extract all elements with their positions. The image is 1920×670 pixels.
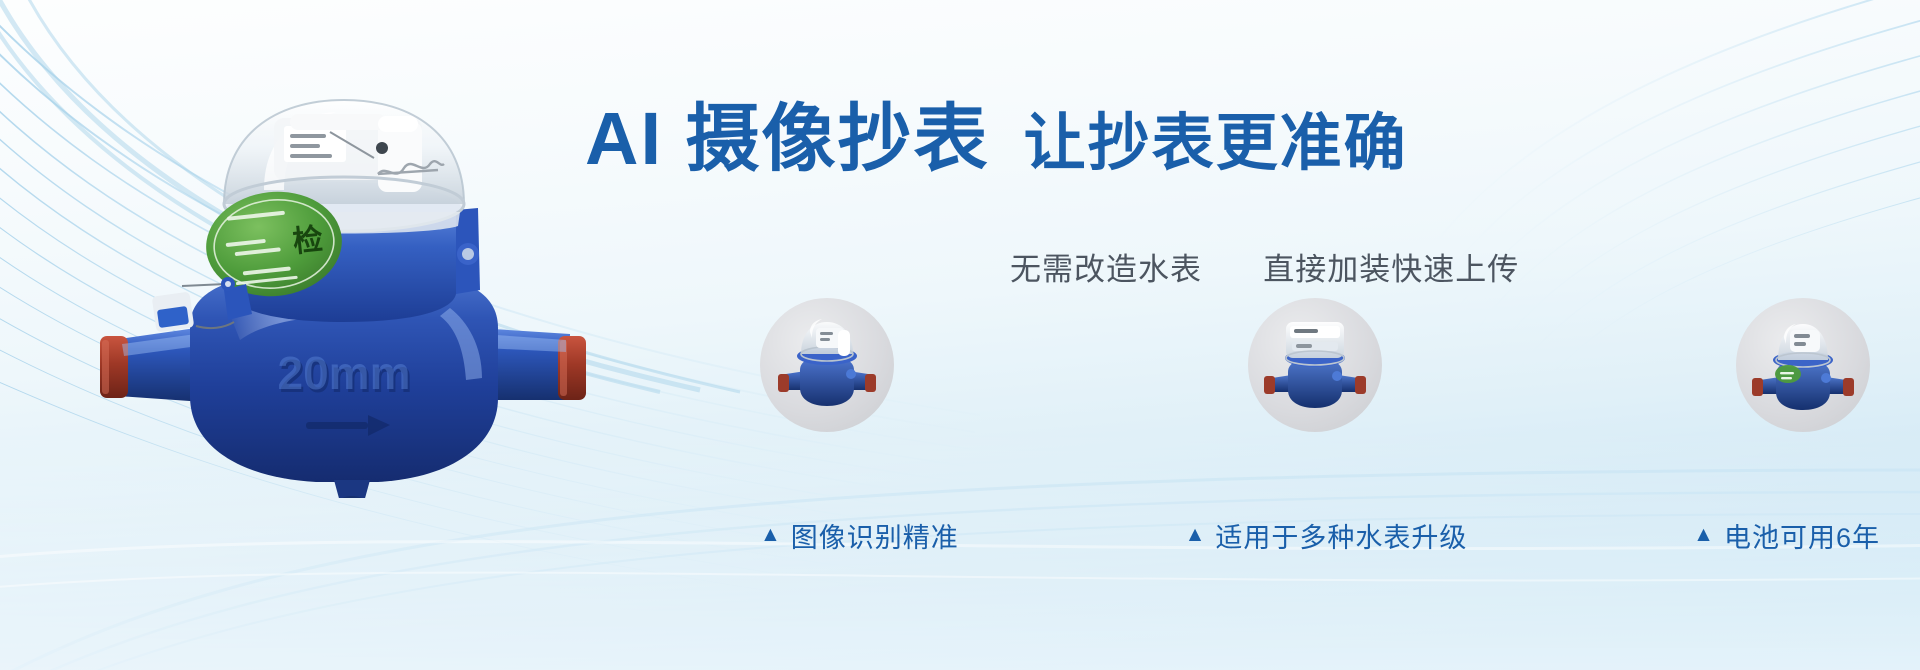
caption-text-1: 图像识别精准 — [791, 516, 959, 555]
water-meter-thumb-icon-2 — [1248, 298, 1382, 432]
triangle-bullet-icon: ▲ — [760, 524, 782, 545]
caption-text-2: 适用于多种水表升级 — [1215, 516, 1467, 555]
caption-text-3: 电池可用6年 — [1724, 516, 1880, 555]
headline-secondary-text: 让抄表更准确 — [1024, 113, 1408, 175]
thumb-image-recognition[interactable] — [760, 298, 894, 432]
feature-caption-row: ▲ 图像识别精准 ▲ 适用于多种水表升级 ▲ 电池可用6年 — [760, 512, 1880, 558]
water-meter-thumb-icon-3 — [1736, 298, 1870, 432]
triangle-bullet-icon: ▲ — [1185, 524, 1207, 545]
sticker-char: 检 — [291, 222, 324, 259]
water-meter-thumb-icon-1 — [760, 298, 894, 432]
caption-meter-upgrade: ▲ 适用于多种水表升级 — [1185, 516, 1468, 555]
thumb-battery-life[interactable] — [1736, 298, 1870, 432]
headline-block: AI 摄像抄表 让抄表更准确 — [585, 102, 1885, 192]
headline-main-text: AI 摄像抄表 — [585, 102, 990, 176]
hero-water-meter-image: 20mm 20mm N&F — [78, 78, 618, 498]
svg-text:20mm: 20mm — [278, 347, 411, 399]
caption-image-recognition: ▲ 图像识别精准 — [760, 516, 959, 555]
thumb-meter-upgrade[interactable] — [1248, 298, 1382, 432]
caption-battery-life: ▲ 电池可用6年 — [1693, 516, 1880, 555]
promo-banner: 20mm 20mm N&F — [0, 0, 1920, 670]
feature-thumbnail-row — [760, 275, 1870, 455]
triangle-bullet-icon: ▲ — [1693, 524, 1715, 545]
